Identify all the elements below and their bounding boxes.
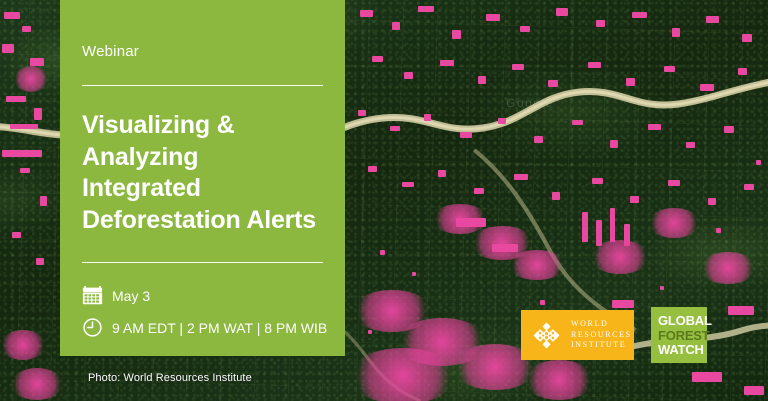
event-date-text: May 3 [112,289,150,303]
global-forest-watch-logo[interactable]: GLOBAL FOREST WATCH [651,307,707,363]
wri-knot-icon [531,320,562,351]
wri-line-1: WORLD [571,320,632,328]
event-details: May 3 9 AM EDT | 2 PM WAT | 8 PM WIB [82,285,323,338]
wri-line-3: INSTITUTE [571,341,632,349]
content-panel: Webinar Visualizing & Analyzing Integrat… [60,0,345,356]
gfw-line-3: WATCH [658,343,707,358]
event-date-row: May 3 [82,285,323,306]
event-time-text: 9 AM EDT | 2 PM WAT | 8 PM WIB [112,321,327,335]
clock-icon [82,317,103,338]
gfw-line-2: FOREST [658,329,707,344]
photo-credit: Photo: World Resources Institute [88,372,252,384]
imagery-watermark: Google [506,96,554,110]
event-time-row: 9 AM EDT | 2 PM WAT | 8 PM WIB [82,317,323,338]
eyebrow-label: Webinar [82,44,323,59]
calendar-icon [82,285,103,306]
divider-top [82,85,323,86]
gfw-line-1: GLOBAL [658,314,707,329]
wri-logo[interactable]: WORLD RESOURCES INSTITUTE [521,310,634,360]
page-title: Visualizing & Analyzing Integrated Defor… [82,110,323,236]
wri-wordmark: WORLD RESOURCES INSTITUTE [571,320,632,349]
wri-line-2: RESOURCES [571,331,632,339]
webinar-promo-card: Google Webinar Visualizing & Analyzing I… [0,0,768,401]
divider-bottom [82,262,323,263]
